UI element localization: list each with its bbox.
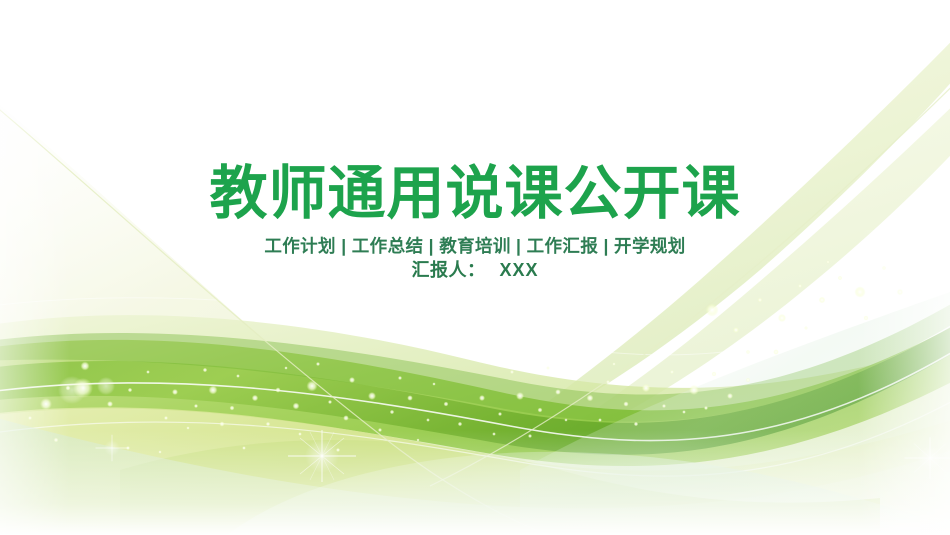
- fade-right: [720, 230, 950, 535]
- background-wave-artwork: [0, 0, 950, 535]
- presentation-slide: 教师通用说课公开课 工作计划 | 工作总结 | 教育培训 | 工作汇报 | 开学…: [0, 0, 950, 535]
- fade-left: [0, 0, 200, 535]
